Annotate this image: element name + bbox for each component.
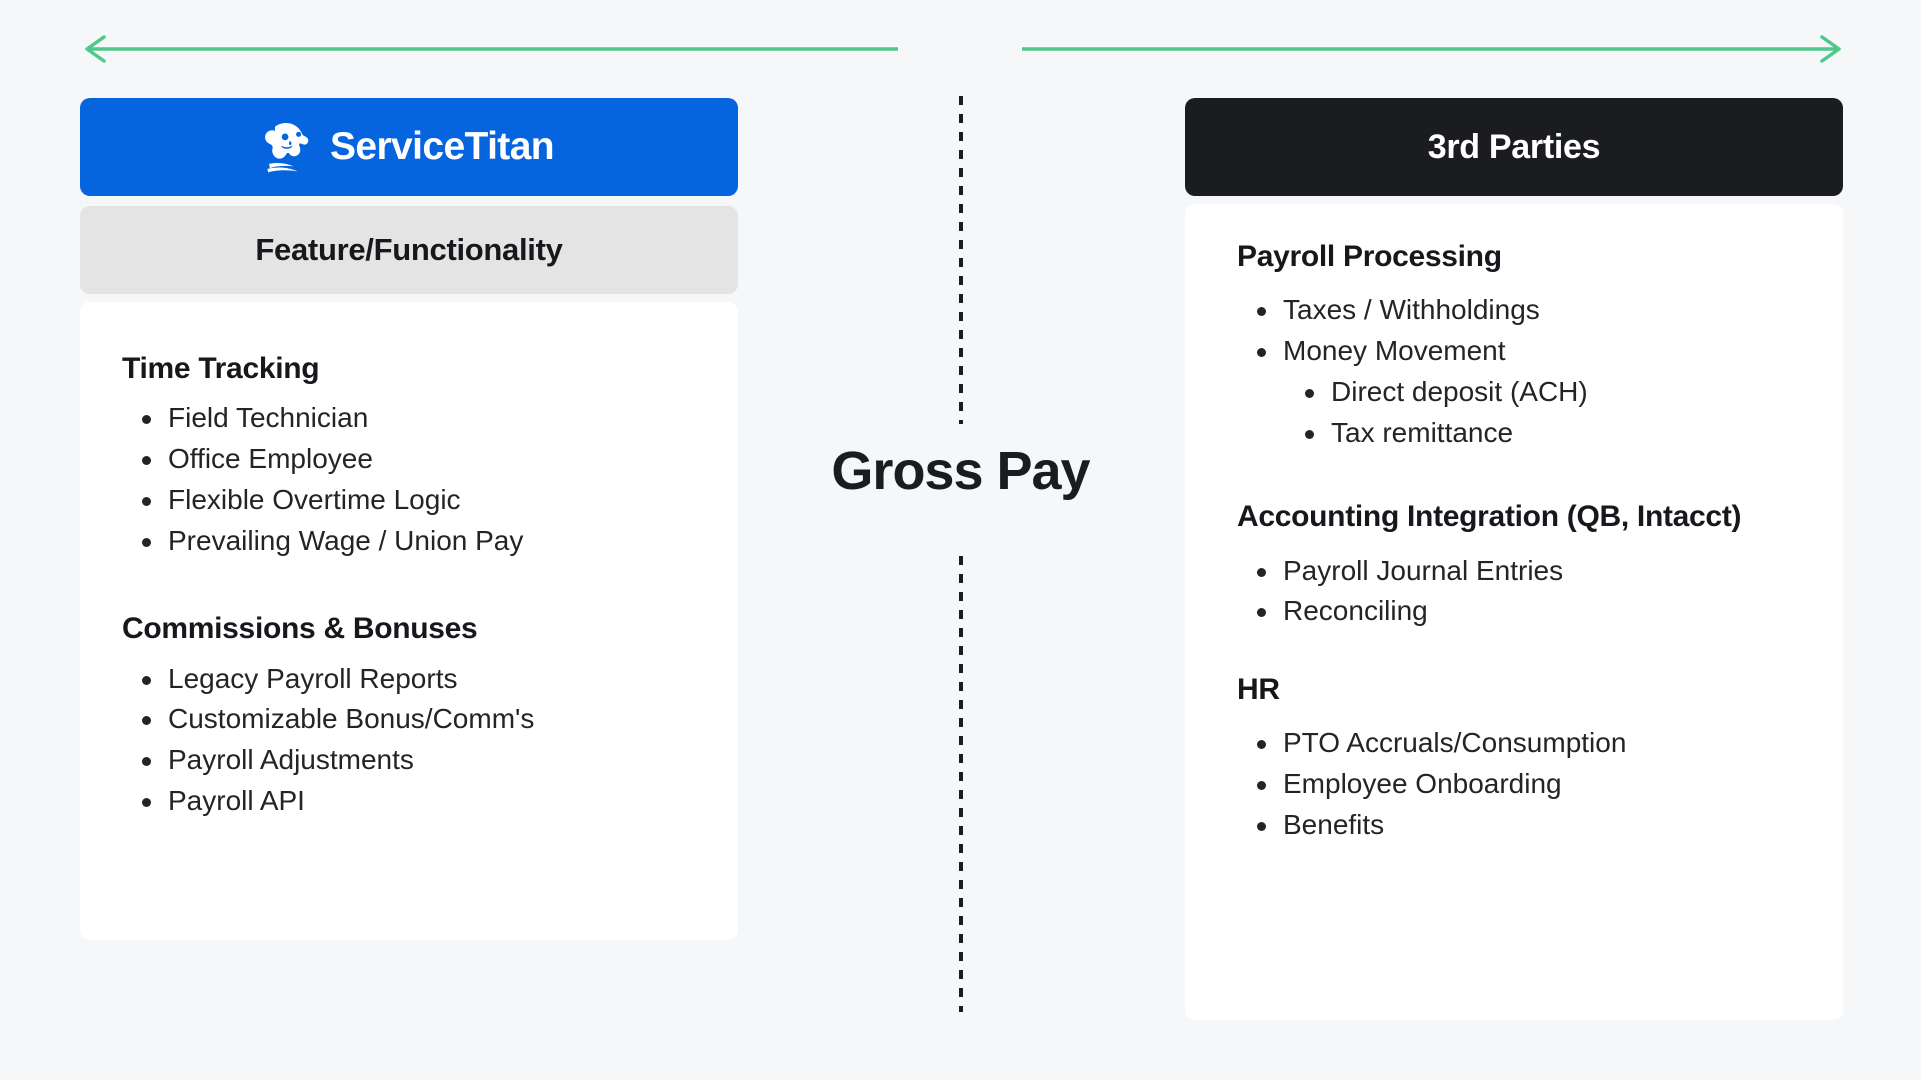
group-title: Time Tracking: [122, 348, 696, 389]
list-item-label: Direct deposit (ACH): [1331, 375, 1588, 410]
diagram-stage: ServiceTitan Feature/Functionality Time …: [0, 0, 1921, 1080]
accounting-integration-list: Payroll Journal Entries Reconciling: [1237, 554, 1791, 635]
feature-functionality-label: Feature/Functionality: [255, 232, 562, 268]
list-item: Reconciling: [1283, 594, 1791, 635]
list-item: PTO Accruals/Consumption: [1283, 726, 1791, 767]
payroll-processing-list: Taxes / Withholdings Money Movement Dire…: [1237, 293, 1791, 462]
right-arrow: [1022, 34, 1848, 64]
list-item-label: Money Movement: [1283, 334, 1506, 369]
list-item: Payroll API: [168, 784, 696, 825]
list-item: Employee Onboarding: [1283, 767, 1791, 808]
servicetitan-logo-icon: [264, 120, 318, 174]
group-commissions-bonuses: Commissions & Bonuses Legacy Payroll Rep…: [122, 608, 696, 824]
servicetitan-header: ServiceTitan: [80, 98, 738, 196]
third-parties-column: 3rd Parties Payroll Processing Taxes / W…: [1185, 98, 1843, 1020]
list-item-label: Reconciling: [1283, 594, 1428, 629]
center-divider-top: [959, 96, 963, 424]
list-item: Prevailing Wage / Union Pay: [168, 524, 696, 565]
feature-functionality-header: Feature/Functionality: [80, 206, 738, 294]
third-parties-card: Payroll Processing Taxes / Withholdings …: [1185, 204, 1843, 1020]
list-item: Field Technician: [168, 401, 696, 442]
list-item: Direct deposit (ACH): [1331, 375, 1791, 416]
list-item: Benefits: [1283, 808, 1791, 849]
time-tracking-list: Field Technician Office Employee Flexibl…: [122, 401, 696, 564]
list-item: Taxes / Withholdings: [1283, 293, 1791, 334]
group-time-tracking: Time Tracking Field Technician Office Em…: [122, 348, 696, 564]
commissions-bonuses-list: Legacy Payroll Reports Customizable Bonu…: [122, 662, 696, 825]
list-item-label: Prevailing Wage / Union Pay: [168, 524, 523, 559]
list-item-label: Payroll Adjustments: [168, 743, 414, 778]
list-item: Legacy Payroll Reports: [168, 662, 696, 703]
list-item-label: Customizable Bonus/Comm's: [168, 702, 534, 737]
list-item-label: Tax remittance: [1331, 416, 1513, 451]
list-item: Money Movement Direct deposit (ACH) Tax …: [1283, 334, 1791, 462]
arrow-row: [0, 34, 1921, 64]
group-hr: HR PTO Accruals/Consumption Employee Onb…: [1237, 669, 1791, 849]
list-item-label: Legacy Payroll Reports: [168, 662, 457, 697]
group-title: HR: [1237, 669, 1791, 710]
list-item: Payroll Journal Entries: [1283, 554, 1791, 595]
list-item: Tax remittance: [1331, 416, 1791, 457]
list-item-label: Payroll API: [168, 784, 305, 819]
center-divider-bottom: [959, 556, 963, 1012]
list-item-label: Employee Onboarding: [1283, 767, 1562, 802]
list-item-label: Field Technician: [168, 401, 368, 436]
list-item-label: Taxes / Withholdings: [1283, 293, 1540, 328]
group-accounting-integration: Accounting Integration (QB, Intacct) Pay…: [1237, 496, 1791, 635]
list-item-label: Benefits: [1283, 808, 1384, 843]
group-title: Payroll Processing: [1237, 236, 1791, 277]
hr-list: PTO Accruals/Consumption Employee Onboar…: [1237, 726, 1791, 848]
brand-lockup: ServiceTitan: [264, 120, 554, 174]
list-item-label: Office Employee: [168, 442, 373, 477]
list-item: Payroll Adjustments: [168, 743, 696, 784]
third-parties-header: 3rd Parties: [1185, 98, 1843, 196]
list-item-label: Payroll Journal Entries: [1283, 554, 1563, 589]
group-title: Commissions & Bonuses: [122, 608, 696, 649]
list-item-label: Flexible Overtime Logic: [168, 483, 461, 518]
group-title: Accounting Integration (QB, Intacct): [1237, 496, 1791, 537]
servicetitan-wordmark: ServiceTitan: [330, 125, 554, 169]
list-item: Office Employee: [168, 442, 696, 483]
servicetitan-column: ServiceTitan Feature/Functionality Time …: [80, 98, 738, 940]
list-item: Customizable Bonus/Comm's: [168, 702, 696, 743]
third-parties-title: 3rd Parties: [1428, 128, 1600, 167]
list-item-label: PTO Accruals/Consumption: [1283, 726, 1626, 761]
group-payroll-processing: Payroll Processing Taxes / Withholdings …: [1237, 236, 1791, 462]
list-item: Flexible Overtime Logic: [168, 483, 696, 524]
money-movement-sublist: Direct deposit (ACH) Tax remittance: [1283, 375, 1791, 456]
left-arrow: [78, 34, 898, 64]
servicetitan-feature-card: Time Tracking Field Technician Office Em…: [80, 302, 738, 940]
